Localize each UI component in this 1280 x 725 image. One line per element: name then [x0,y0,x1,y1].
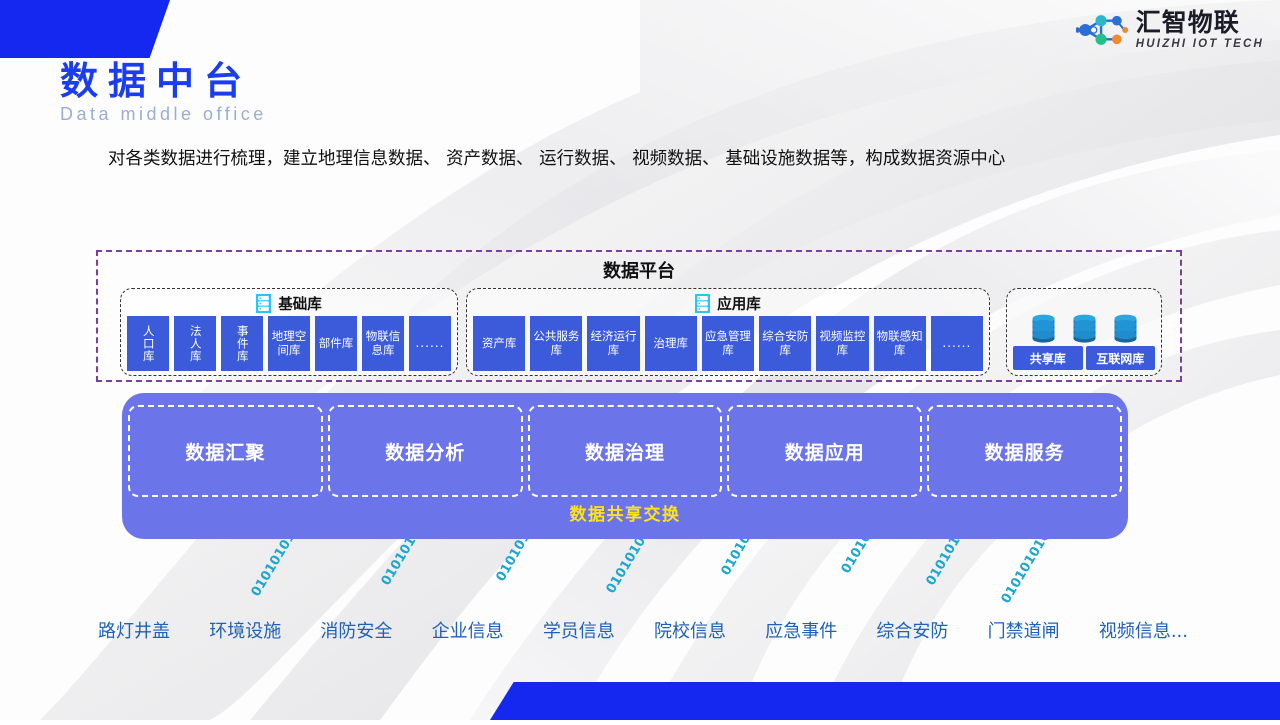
database-tab-0[interactable]: 共享库 [1013,346,1083,370]
app-library-chip-3[interactable]: 治理库 [645,316,697,371]
domain-tag-9[interactable]: 视频信息... [1099,617,1188,643]
brand-logo-text: 汇智物联 HUIZHI IOT TECH [1136,10,1264,51]
domain-tag-0[interactable]: 路灯井盖 [98,617,170,643]
base-library-items: 人口库法人库事件库地理空间库部件库物联信息库...... [127,316,451,371]
database-cylinder-icon [1071,314,1098,344]
shared-database-box: 共享库互联网库 [1006,288,1162,376]
app-library-header: 应用库 [467,293,989,314]
app-library-chip-6[interactable]: 视频监控库 [816,316,868,371]
domain-tag-1[interactable]: 环境设施 [209,617,281,643]
capability-box-1[interactable]: 数据分析 [328,405,523,497]
molecule-network-icon [1076,10,1128,50]
domain-tag-3[interactable]: 企业信息 [432,617,504,643]
domain-tag-list: 路灯井盖环境设施消防安全企业信息学员信息院校信息应急事件综合安防门禁道闸视频信息… [98,617,1188,643]
domain-tag-8[interactable]: 门禁道闸 [988,617,1060,643]
app-library-chip-1[interactable]: 公共服务库 [530,316,582,371]
app-library-chip-5[interactable]: 综合安防库 [759,316,811,371]
database-tab-1[interactable]: 互联网库 [1086,346,1156,370]
domain-tag-7[interactable]: 综合安防 [876,617,948,643]
page-title: 数据中台 [60,62,267,102]
corner-accent-bottom-right [490,682,1280,720]
server-rack-icon [256,294,271,313]
app-library-chip-7[interactable]: 物联感知库 [874,316,926,371]
brand-logo: 汇智物联 HUIZHI IOT TECH [1076,10,1264,51]
server-rack-icon [695,294,710,313]
capability-box-2[interactable]: 数据治理 [528,405,723,497]
page-description: 对各类数据进行梳理，建立地理信息数据、 资产数据、 运行数据、 视频数据、 基础… [108,138,1178,181]
app-library-chip-8[interactable]: ...... [931,316,983,371]
domain-tag-6[interactable]: 应急事件 [765,617,837,643]
app-library-chip-4[interactable]: 应急管理库 [702,316,754,371]
page-subtitle: Data middle office [60,104,267,125]
capability-box-4[interactable]: 数据服务 [927,405,1122,497]
capability-box-0[interactable]: 数据汇聚 [128,405,323,497]
capability-list: 数据汇聚数据分析数据治理数据应用数据服务 [128,405,1122,497]
page-title-block: 数据中台 Data middle office [60,62,267,125]
app-library-chip-2[interactable]: 经济运行库 [587,316,639,371]
base-library-chip-5[interactable]: 物联信息库 [362,316,404,371]
base-library-chip-0[interactable]: 人口库 [127,316,169,371]
database-tab-group: 共享库互联网库 [1013,346,1155,370]
brand-name-cn: 汇智物联 [1136,10,1264,35]
capability-box-3[interactable]: 数据应用 [727,405,922,497]
database-cylinder-icon [1030,314,1057,344]
app-library-box: 应用库 资产库公共服务库经济运行库治理库应急管理库综合安防库视频监控库物联感知库… [466,288,990,376]
brand-name-en: HUIZHI IOT TECH [1136,39,1264,51]
binary-decoration-layer: 0101010101010101010101010101010100101010… [0,525,1280,625]
app-library-items: 资产库公共服务库经济运行库治理库应急管理库综合安防库视频监控库物联感知库....… [473,316,983,371]
database-cylinder-icon [1112,314,1139,344]
domain-tag-5[interactable]: 院校信息 [654,617,726,643]
data-platform-panel: 数据平台 基础库 人口库法人库事件库地理空间库部件库物联信息库...... [96,250,1182,382]
base-library-header: 基础库 [121,293,457,314]
base-library-chip-3[interactable]: 地理空间库 [268,316,310,371]
database-cylinder-group [1007,311,1161,347]
corner-accent-top-left [0,0,170,58]
base-library-chip-1[interactable]: 法人库 [174,316,216,371]
base-library-chip-4[interactable]: 部件库 [315,316,357,371]
base-library-title: 基础库 [278,293,322,314]
domain-tag-4[interactable]: 学员信息 [543,617,615,643]
data-exchange-label: 数据共享交换 [122,500,1128,525]
base-library-chip-6[interactable]: ...... [409,316,451,371]
domain-tag-2[interactable]: 消防安全 [320,617,392,643]
base-library-box: 基础库 人口库法人库事件库地理空间库部件库物联信息库...... [120,288,458,376]
data-platform-title: 数据平台 [98,257,1180,283]
capability-band: 数据汇聚数据分析数据治理数据应用数据服务 数据共享交换 [122,393,1128,539]
app-library-title: 应用库 [717,293,761,314]
base-library-chip-2[interactable]: 事件库 [221,316,263,371]
app-library-chip-0[interactable]: 资产库 [473,316,525,371]
